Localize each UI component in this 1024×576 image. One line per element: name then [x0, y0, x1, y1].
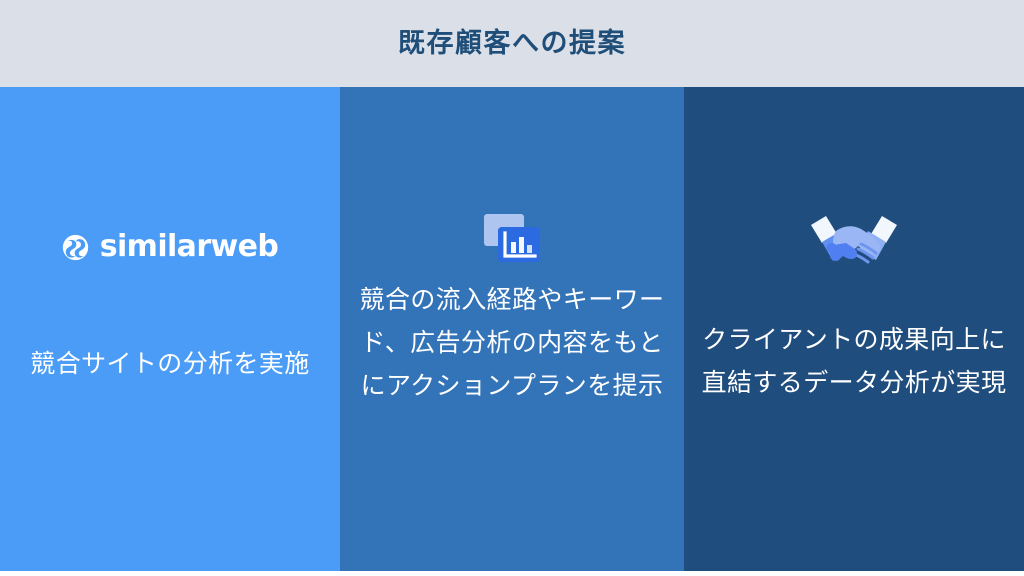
- similarweb-wordmark: similarweb: [100, 232, 279, 262]
- column-2-text: 競合の流入経路やキーワード、広告分析の内容をもとにアクションプランを提示: [340, 279, 684, 408]
- similarweb-mark-icon: [62, 234, 89, 261]
- handshake-icon: [806, 211, 902, 273]
- columns-container: similarweb 競合サイトの分析を実施 競合の流入経路やキーワード、広告分…: [0, 87, 1024, 571]
- column-2-visual: [340, 209, 684, 271]
- header-band: 既存顧客への提案: [0, 0, 1024, 87]
- column-action-plan: 競合の流入経路やキーワード、広告分析の内容をもとにアクションプランを提示: [340, 87, 684, 571]
- bar-chart-report-icon: [481, 211, 543, 269]
- column-competitor-analysis: similarweb 競合サイトの分析を実施: [0, 87, 340, 571]
- column-client-results: クライアントの成果向上に直結するデータ分析が実現: [684, 87, 1024, 571]
- slide: 既存顧客への提案 similarweb 競合サイトの分析を実施: [0, 0, 1024, 576]
- column-3-visual: [684, 211, 1024, 273]
- page-title: 既存顧客への提案: [398, 30, 626, 57]
- column-1-text: 競合サイトの分析を実施: [0, 343, 340, 386]
- similarweb-logo: similarweb: [62, 232, 279, 262]
- bottom-strip: [0, 571, 1024, 576]
- column-1-visual: similarweb: [0, 219, 340, 275]
- column-3-text: クライアントの成果向上に直結するデータ分析が実現: [684, 319, 1024, 405]
